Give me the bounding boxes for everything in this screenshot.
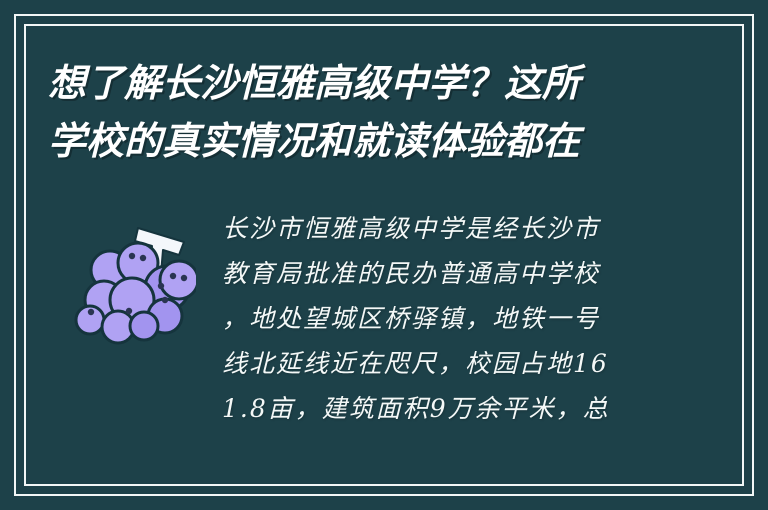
body-line-3: ，地处望城区桥驿镇，地铁一号: [222, 296, 672, 341]
body-line-1: 长沙市恒雅高级中学是经长沙市: [222, 206, 672, 251]
headline-line-2: 学校的真实情况和就读体验都在: [48, 112, 718, 170]
body-line-4: 线北延线近在咫尺，校园占地16: [222, 341, 672, 386]
body-paragraph: 长沙市恒雅高级中学是经长沙市 教育局批准的民办普通高中学校 ，地处望城区桥驿镇，…: [222, 206, 672, 431]
body-line-2: 教育局批准的民办普通高中学校: [222, 251, 672, 296]
page-title: 想了解长沙恒雅高级中学？这所 学校的真实情况和就读体验都在: [48, 54, 718, 170]
headline-line-1: 想了解长沙恒雅高级中学？这所: [48, 54, 718, 112]
grape-cluster-icon: [66, 208, 196, 353]
body-line-5: 1.8亩，建筑面积9万余平米，总: [222, 386, 672, 431]
poster-canvas: 想了解长沙恒雅高级中学？这所 学校的真实情况和就读体验都在: [0, 0, 768, 510]
grape-berries: [76, 243, 196, 343]
